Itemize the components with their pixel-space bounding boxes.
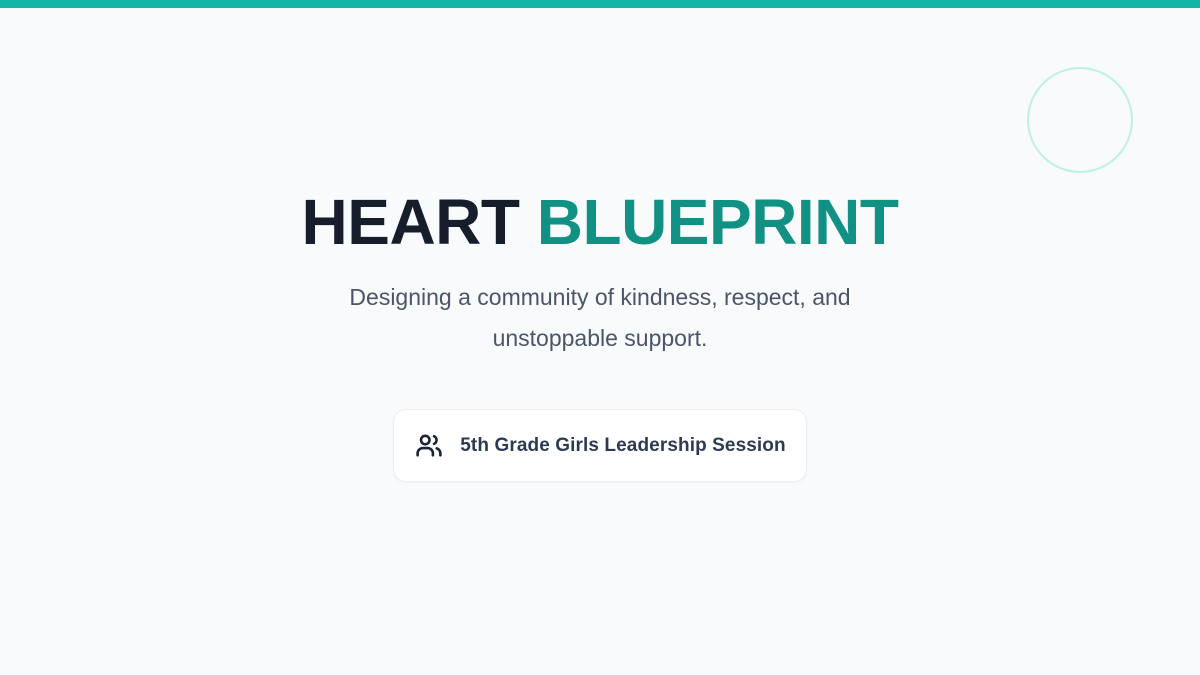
session-badge[interactable]: 5th Grade Girls Leadership Session xyxy=(393,409,807,482)
page-title: HEART BLUEPRINT xyxy=(0,186,1200,258)
slide-root: HEART BLUEPRINT Designing a community of… xyxy=(0,0,1200,675)
title-primary-word: HEART xyxy=(302,186,520,258)
title-accent-word: BLUEPRINT xyxy=(537,186,899,258)
session-badge-label: 5th Grade Girls Leadership Session xyxy=(460,435,785,457)
title-space xyxy=(519,186,536,258)
hero-section: HEART BLUEPRINT Designing a community of… xyxy=(0,0,1200,675)
users-icon xyxy=(414,431,444,461)
page-subtitle: Designing a community of kindness, respe… xyxy=(300,277,900,359)
